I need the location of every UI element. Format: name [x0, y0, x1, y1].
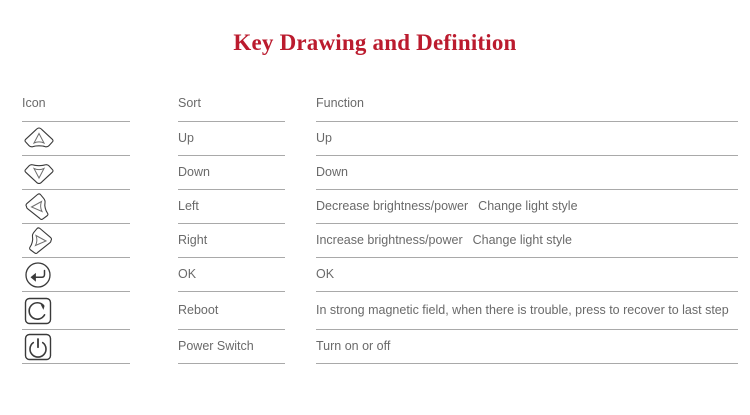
- table-header-row: Icon Sort Function: [0, 96, 750, 122]
- page-title: Key Drawing and Definition: [0, 30, 750, 56]
- sort-label: Left: [178, 199, 199, 214]
- function-label: Turn on or off: [316, 339, 390, 353]
- up-arrow-icon: [22, 124, 56, 154]
- function-label: Decrease brightness/power: [316, 199, 468, 213]
- table-row: Reboot In strong magnetic field, when th…: [0, 292, 750, 330]
- sort-cell: Down: [170, 156, 313, 190]
- right-arrow-icon: [22, 226, 56, 256]
- table-row: Right Increase brightness/powerChange li…: [0, 224, 750, 258]
- sort-label: Power Switch: [178, 339, 254, 354]
- key-definition-table: Icon Sort Function: [0, 96, 750, 364]
- sort-label: Down: [178, 165, 210, 180]
- column-header-icon-label: Icon: [22, 96, 46, 111]
- function-label-extra: Change light style: [473, 233, 572, 247]
- table-row: Left Decrease brightness/powerChange lig…: [0, 190, 750, 224]
- function-cell: In strong magnetic field, when there is …: [313, 292, 750, 330]
- power-switch-icon: [22, 332, 56, 362]
- left-arrow-icon: [22, 192, 56, 222]
- ok-enter-icon: [22, 260, 56, 290]
- icon-cell: [0, 292, 170, 330]
- icon-cell: [0, 156, 170, 190]
- function-cell: OK: [313, 258, 750, 292]
- sort-cell: Left: [170, 190, 313, 224]
- column-header-function: Function: [313, 96, 750, 122]
- reboot-icon: [22, 296, 56, 326]
- sort-label: OK: [178, 267, 196, 282]
- sort-label: Up: [178, 131, 194, 146]
- icon-cell: [0, 330, 170, 364]
- function-cell: Turn on or off: [313, 330, 750, 364]
- column-header-sort: Sort: [170, 96, 313, 122]
- function-cell: Down: [313, 156, 750, 190]
- sort-cell: OK: [170, 258, 313, 292]
- function-label: Up: [316, 131, 332, 145]
- sort-cell: Reboot: [170, 292, 313, 330]
- table-row: Up Up: [0, 122, 750, 156]
- sort-cell: Right: [170, 224, 313, 258]
- function-label: Increase brightness/power: [316, 233, 463, 247]
- table-row: Power Switch Turn on or off: [0, 330, 750, 364]
- icon-cell: [0, 190, 170, 224]
- column-header-icon: Icon: [0, 96, 170, 122]
- column-header-function-label: Function: [316, 96, 364, 111]
- column-header-sort-label: Sort: [178, 96, 201, 111]
- icon-cell: [0, 122, 170, 156]
- function-cell: Decrease brightness/powerChange light st…: [313, 190, 750, 224]
- function-label: Down: [316, 165, 348, 179]
- function-cell: Increase brightness/powerChange light st…: [313, 224, 750, 258]
- sort-label: Reboot: [178, 303, 218, 318]
- key-definition-page: Key Drawing and Definition Icon Sort Fun…: [0, 0, 750, 415]
- table-row: Down Down: [0, 156, 750, 190]
- icon-cell: [0, 224, 170, 258]
- function-label: In strong magnetic field, when there is …: [316, 303, 729, 317]
- function-cell: Up: [313, 122, 750, 156]
- sort-cell: Power Switch: [170, 330, 313, 364]
- sort-cell: Up: [170, 122, 313, 156]
- icon-cell: [0, 258, 170, 292]
- function-label: OK: [316, 267, 334, 281]
- function-label-extra: Change light style: [478, 199, 577, 213]
- sort-label: Right: [178, 233, 207, 248]
- down-arrow-icon: [22, 158, 56, 188]
- table-row: OK OK: [0, 258, 750, 292]
